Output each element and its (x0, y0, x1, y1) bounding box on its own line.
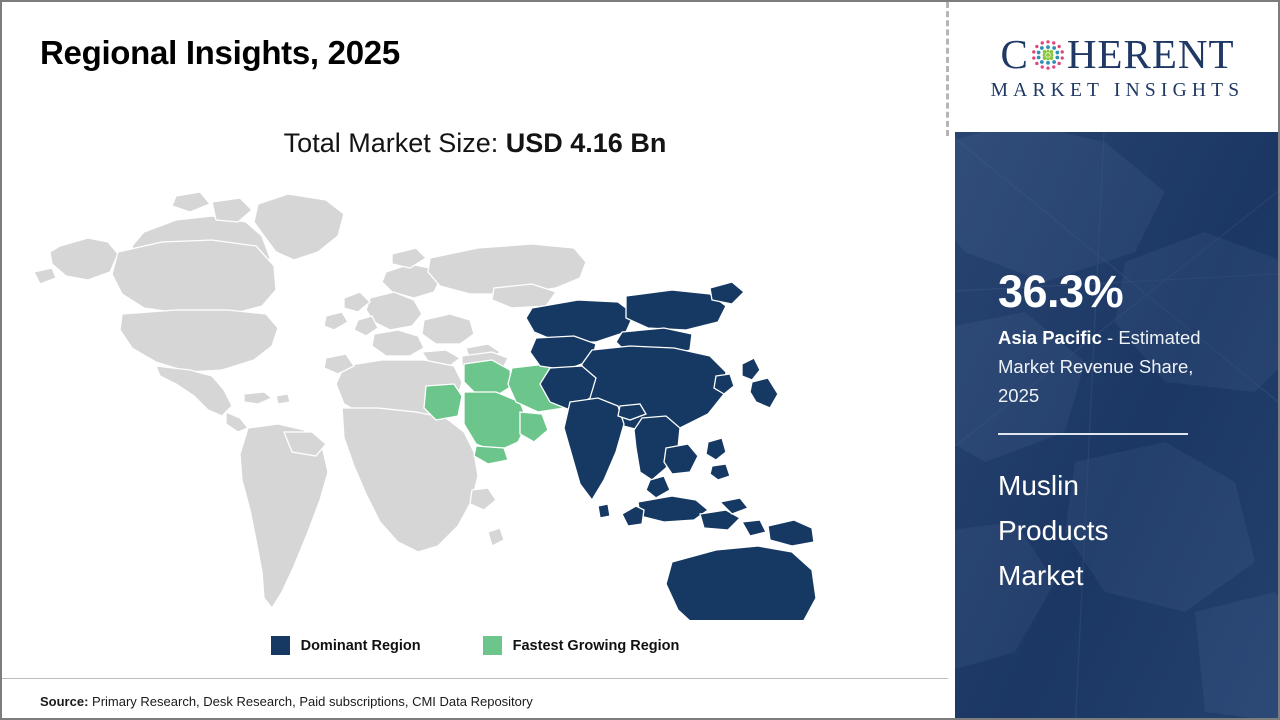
map-legend: Dominant Region Fastest Growing Region (2, 636, 948, 655)
legend-label-fastest-growing-region: Fastest Growing Region (513, 638, 680, 654)
logo-letters-herent: HERENT (1067, 34, 1235, 75)
panel-dashed-separator (946, 2, 949, 136)
dotted-globe-icon (1030, 37, 1066, 73)
market-share-percent: 36.3% (998, 269, 1248, 314)
world-map-container (26, 180, 826, 620)
legend-item-fastest-growing-region: Fastest Growing Region (483, 636, 680, 655)
total-market-size-label: Total Market Size: (284, 128, 499, 158)
source-label: Source: (40, 694, 88, 709)
regional-insights-infographic: Regional Insights, 2025 Total Market Siz… (0, 0, 1280, 720)
world-map-svg (26, 180, 826, 620)
legend-swatch-fastest-growing-region (483, 636, 502, 655)
source-divider (2, 678, 948, 679)
panel-content: 36.3% Asia Pacific - Estimated Market Re… (998, 132, 1248, 599)
dominant-region-shapes (526, 282, 826, 620)
source-note: Source: Primary Research, Desk Research,… (40, 694, 533, 709)
logo-wordmark: C (1000, 33, 1234, 77)
right-highlight-panel: 36.3% Asia Pacific - Estimated Market Re… (955, 132, 1280, 718)
left-panel: Regional Insights, 2025 Total Market Siz… (2, 2, 948, 718)
source-text: Primary Research, Desk Research, Paid su… (88, 694, 532, 709)
market-name-line-2: Products (998, 508, 1248, 553)
panel-horizontal-divider (998, 433, 1188, 435)
company-logo: C (955, 2, 1280, 132)
market-name: Muslin Products Market (998, 463, 1248, 599)
market-name-line-3: Market (998, 553, 1248, 598)
logo-letter-c: C (1000, 34, 1028, 75)
logo-tagline: MARKET INSIGHTS (991, 80, 1245, 102)
page-title: Regional Insights, 2025 (40, 34, 400, 72)
legend-swatch-dominant-region (271, 636, 290, 655)
legend-item-dominant-region: Dominant Region (271, 636, 421, 655)
market-name-line-1: Muslin (998, 463, 1248, 508)
total-market-size: Total Market Size: USD 4.16 Bn (2, 128, 948, 159)
market-share-region: Asia Pacific (998, 327, 1102, 348)
legend-label-dominant-region: Dominant Region (301, 638, 421, 654)
market-share-description: Asia Pacific - Estimated Market Revenue … (998, 324, 1230, 411)
total-market-size-value: USD 4.16 Bn (506, 128, 667, 158)
